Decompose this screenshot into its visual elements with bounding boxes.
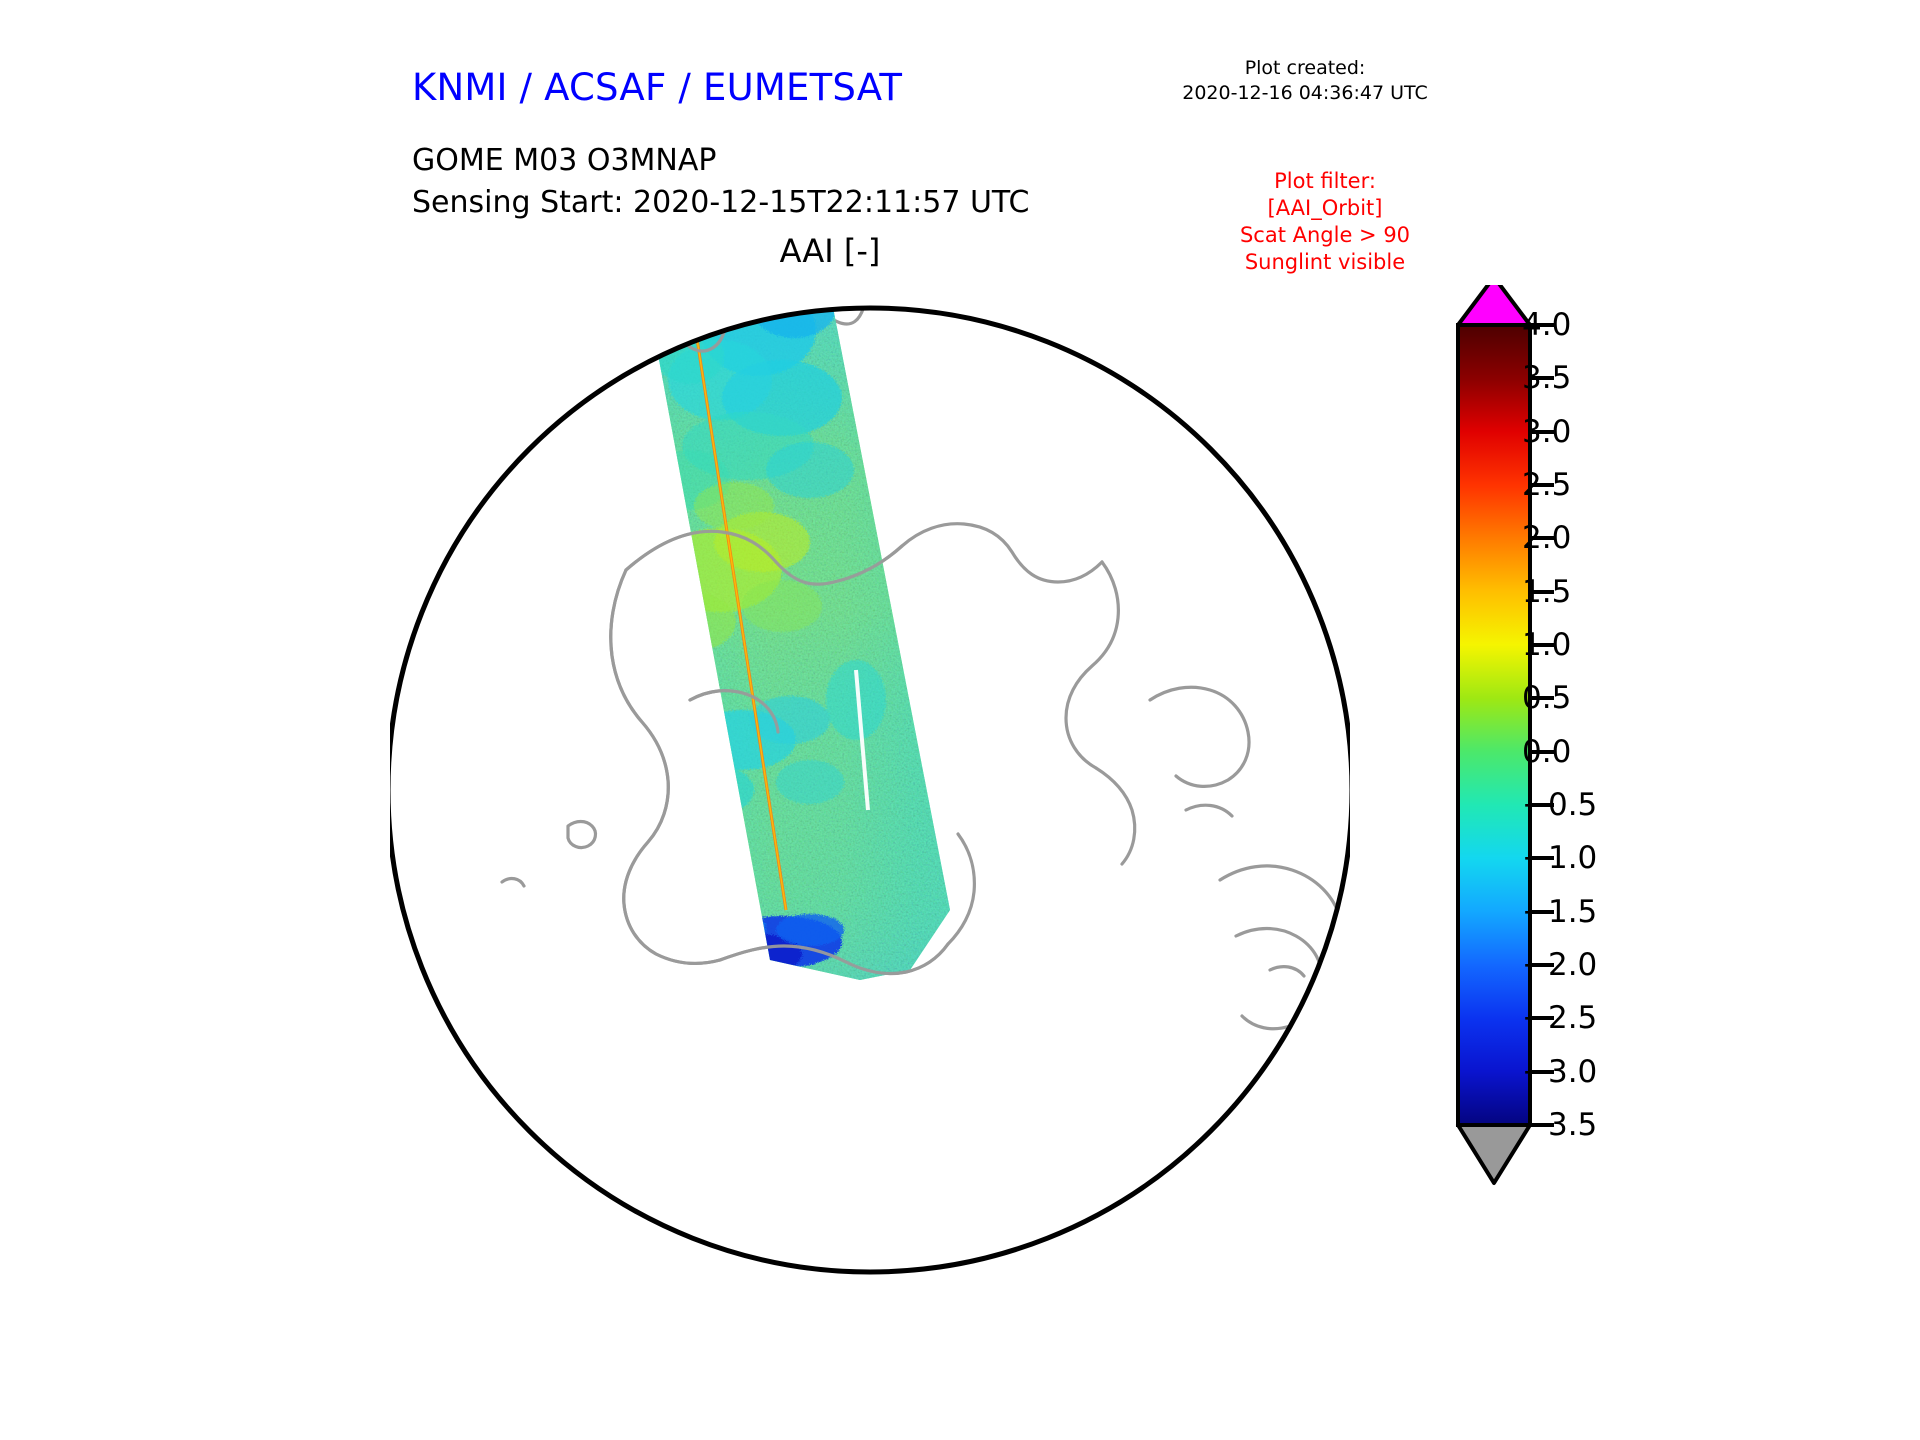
colorbar-tick-label: 2.0 xyxy=(1522,520,1571,556)
colorbar-tick-label: 2.5 xyxy=(1522,467,1571,503)
globe-disc xyxy=(390,270,1350,1272)
sensing-start: Sensing Start: 2020-12-15T22:11:57 UTC xyxy=(412,182,1029,224)
colorbar-tick-label: 3.0 xyxy=(1522,414,1571,450)
colorbar-tick-label: −0.5 xyxy=(1522,787,1597,823)
colorbar-over-arrow xyxy=(1458,285,1530,325)
colorbar-tick-label: 4.0 xyxy=(1522,307,1571,343)
plot-filter-scat-angle: Scat Angle > 90 xyxy=(1180,222,1470,249)
coast-island-small xyxy=(690,279,752,303)
colorbar-tick-label: 3.5 xyxy=(1522,360,1571,396)
colorbar-tick-label: 1.0 xyxy=(1522,627,1571,663)
organisation-title: KNMI / ACSAF / EUMETSAT xyxy=(412,66,902,109)
colorbar-tick-label: −1.5 xyxy=(1522,894,1597,930)
plot-created-block: Plot created: 2020-12-16 04:36:47 UTC xyxy=(1160,56,1450,106)
colorbar-svg xyxy=(1438,285,1768,1305)
colorbar-under-arrow xyxy=(1458,1125,1530,1183)
colorbar-tick-label: −3.5 xyxy=(1522,1107,1597,1143)
plot-created-timestamp: 2020-12-16 04:36:47 UTC xyxy=(1160,81,1450,106)
plot-filter-name: [AAI_Orbit] xyxy=(1180,195,1470,222)
colorbar-tick-label: 0.5 xyxy=(1522,680,1571,716)
swath-negative-patches xyxy=(650,278,854,510)
colorbar-tick-label: −2.5 xyxy=(1522,1000,1597,1036)
product-info-block: GOME M03 O3MNAP Sensing Start: 2020-12-1… xyxy=(412,140,1029,224)
map-area xyxy=(390,270,1350,1310)
polar-map xyxy=(390,270,1350,1310)
colorbar: 4.0 3.5 3.0 2.5 2.0 1.5 1.0 0.5 0.0 −0.5… xyxy=(1438,285,1768,1305)
colorbar-tick-label: 1.5 xyxy=(1522,574,1571,610)
colorbar-tick-label: −2.0 xyxy=(1522,947,1597,983)
quantity-title: AAI [-] xyxy=(620,232,1040,270)
plot-filter-label: Plot filter: xyxy=(1180,168,1470,195)
colorbar-gradient-bar xyxy=(1458,325,1530,1125)
colorbar-tick-label: −3.0 xyxy=(1522,1054,1597,1090)
plot-page: KNMI / ACSAF / EUMETSAT Plot created: 20… xyxy=(0,0,1920,1440)
plot-created-label: Plot created: xyxy=(1160,56,1450,81)
product-name: GOME M03 O3MNAP xyxy=(412,140,1029,182)
colorbar-tick-label: 0.0 xyxy=(1522,734,1571,770)
plot-filter-block: Plot filter: [AAI_Orbit] Scat Angle > 90… xyxy=(1180,168,1470,276)
colorbar-tick-label: −1.0 xyxy=(1522,840,1597,876)
